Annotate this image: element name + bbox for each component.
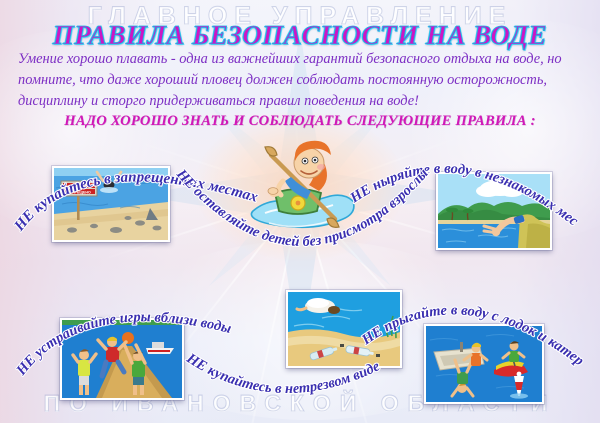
caption-text: НЕ оставляйте детей без присмотра взросл… [163, 138, 431, 250]
caption-text: НЕ купайтесь в нетрезвом виде [183, 350, 383, 397]
svg-text:НЕ купайтесь в нетрезвом виде: НЕ купайтесь в нетрезвом виде [183, 350, 383, 397]
caption-no-swim-drunk: НЕ купайтесь в нетрезвом виде [176, 352, 402, 418]
page-title: ПРАВИЛА БЕЗОПАСНОСТИ НА ВОДЕ [0, 20, 600, 51]
svg-text:НЕ оставляйте детей без присмо: НЕ оставляйте детей без присмотра взросл… [163, 138, 431, 250]
intro-paragraph: Умение хорошо плавать - одна из важнейши… [18, 49, 584, 113]
subtitle: НАДО ХОРОШО ЗНАТЬ И СОБЛЮДАТЬ СЛЕДУЮЩИЕ … [0, 113, 600, 130]
safety-poster: ГЛАВНОЕ УПРАВЛЕНИЕ ПО ИВАНОВСКОЙ ОБЛАСТИ… [0, 0, 600, 423]
caption-no-children-unattended: НЕ оставляйте детей без присмотра взросл… [168, 150, 436, 280]
